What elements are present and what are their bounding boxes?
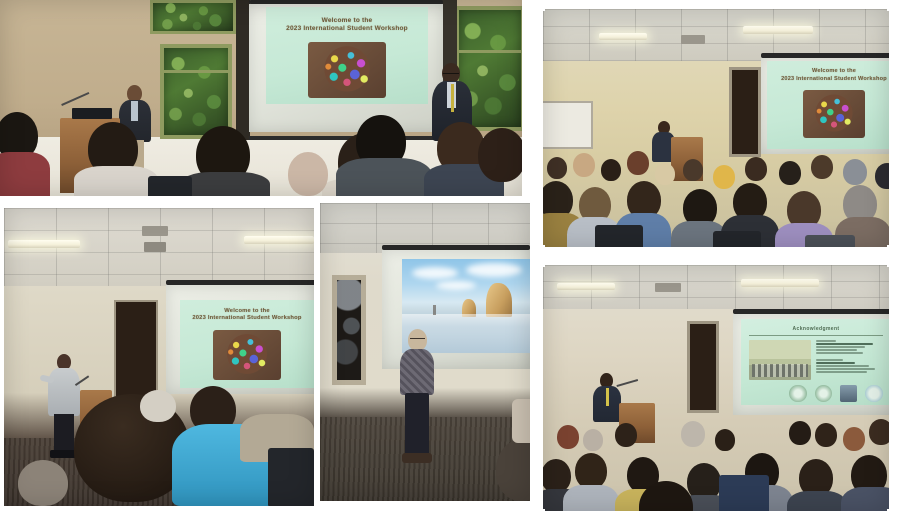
slide-group-photo <box>749 340 810 380</box>
projector-screen: Welcome to the 2023 International Studen… <box>249 0 443 140</box>
whiteboard <box>543 101 593 149</box>
audience-arm <box>512 399 530 443</box>
ack-list-line <box>816 349 857 351</box>
ceiling-light <box>244 236 314 244</box>
slide-ack-body <box>749 340 882 380</box>
window-center <box>160 44 232 139</box>
ceiling-light <box>741 279 819 287</box>
corner-patch <box>887 245 898 256</box>
photo-inner: Acknowledgment <box>543 265 889 511</box>
drop-ceiling <box>4 208 314 286</box>
ack-list-line <box>816 359 843 361</box>
slide-ack-title: Acknowledgment <box>749 326 882 332</box>
audience-shoulders <box>180 172 270 196</box>
ack-list-line <box>816 346 865 348</box>
ack-list-line <box>816 352 863 354</box>
audience-head <box>140 390 176 422</box>
doorway <box>114 300 158 402</box>
lecture-room-scene <box>320 203 530 501</box>
audience-head <box>683 159 703 181</box>
speaker-glasses <box>443 73 459 76</box>
audience-head <box>18 460 68 506</box>
cloud <box>412 267 458 279</box>
speaker-lanyard <box>451 84 454 112</box>
ceiling-light <box>599 33 647 40</box>
narrow-window <box>332 275 366 385</box>
speaker-shirt <box>131 101 138 121</box>
speaker-shoes <box>50 450 76 458</box>
slide-title-line2: 2023 International Student Workshop <box>781 76 887 84</box>
speaker-legs <box>405 393 429 455</box>
photo-panel-bottom-middle[interactable] <box>320 203 530 501</box>
photo-inner: Welcome to the 2023 International Studen… <box>543 9 889 247</box>
doorway <box>687 321 719 413</box>
sponsor-logo <box>789 385 806 402</box>
audience-head <box>601 159 621 181</box>
audience-shoulders <box>336 158 432 196</box>
slide-title-line2: 2023 International Student Workshop <box>192 315 301 323</box>
photo-collage: Welcome to the 2023 International Studen… <box>0 0 900 520</box>
slide-sponsor-logos <box>749 385 882 402</box>
lecture-room-scene: Welcome to the 2023 International Studen… <box>4 208 314 506</box>
slide-welcome: Welcome to the 2023 International Studen… <box>767 61 889 149</box>
slide-globe-image <box>213 330 281 380</box>
ack-list-line <box>816 340 836 342</box>
audience-head <box>575 453 607 489</box>
slide-title-line2: 2023 International Student Workshop <box>286 25 408 34</box>
ceiling-vent <box>681 35 705 44</box>
corner-patch <box>887 0 898 11</box>
sponsor-logo <box>815 385 832 402</box>
audience-shoulders <box>787 491 847 511</box>
chair <box>805 235 855 247</box>
chair <box>713 231 761 247</box>
speaker-glasses <box>410 338 425 341</box>
audience-shoulders <box>74 166 158 196</box>
audience-shoulders <box>841 487 889 511</box>
ack-list-heading <box>816 343 873 345</box>
corner-patch <box>534 509 545 520</box>
sea-stack <box>486 283 512 317</box>
projector-screen: Acknowledgment <box>733 309 889 419</box>
ack-list-line <box>816 365 869 367</box>
audience-shoulders <box>563 485 619 511</box>
window-reflection <box>337 280 361 380</box>
doorway <box>729 67 761 157</box>
ceiling-vent <box>655 283 681 292</box>
chair <box>719 475 769 511</box>
podium-laptop <box>72 108 112 119</box>
corner-patch <box>887 509 898 520</box>
speaker-torso <box>400 349 434 395</box>
audience-head <box>627 151 649 175</box>
chair <box>268 448 314 506</box>
chair <box>595 225 643 247</box>
slide-ack-name-list <box>816 340 883 380</box>
audience-head <box>547 157 567 179</box>
wall-dark-strip <box>236 0 250 140</box>
corner-patch <box>887 256 898 267</box>
photo-panel-bottom-right[interactable]: Acknowledgment <box>534 256 898 520</box>
slide-globe-image <box>308 42 386 98</box>
audience-row-front <box>543 441 889 511</box>
window-mullion <box>459 50 521 53</box>
corner-patch <box>534 256 545 267</box>
projector-screen: Welcome to the 2023 International Studen… <box>166 280 314 398</box>
cloud <box>436 281 476 290</box>
ceiling-light <box>743 26 813 34</box>
corner-patch <box>534 0 545 11</box>
ceiling-light <box>557 283 615 290</box>
ceiling-light <box>8 240 80 248</box>
speaker-shoes <box>402 453 432 463</box>
corner-patch <box>534 245 545 256</box>
speaker-presenter <box>398 329 436 469</box>
ceiling-vent <box>142 226 168 236</box>
ack-list-line <box>816 371 867 373</box>
window-mullion <box>164 70 228 73</box>
sponsor-logo <box>865 385 882 402</box>
sponsor-logo <box>840 385 857 402</box>
slide-title-line1: Welcome to the <box>812 68 856 76</box>
ack-list-line <box>816 368 875 370</box>
audience-head <box>478 128 522 182</box>
speaker-lanyard <box>606 388 609 406</box>
window-left <box>150 0 236 34</box>
slide-globe-image <box>803 90 865 138</box>
audience-head <box>745 157 767 181</box>
speaker-torso <box>48 368 80 416</box>
audience-shoulders <box>0 152 50 196</box>
slide-welcome: Welcome to the 2023 International Studen… <box>180 300 314 388</box>
cloud <box>466 263 522 277</box>
audience-head <box>811 155 833 179</box>
slide-ack-divider <box>749 335 882 336</box>
audience-head <box>288 152 328 196</box>
window-foliage <box>164 48 228 135</box>
photo-panel-top-right[interactable]: Welcome to the 2023 International Studen… <box>534 0 898 256</box>
window-foliage <box>153 3 233 31</box>
audience-head <box>543 459 571 493</box>
ceiling-vent <box>144 242 166 252</box>
photo-panel-bottom-left[interactable]: Welcome to the 2023 International Studen… <box>4 208 314 506</box>
audience-head <box>573 153 595 177</box>
slide-welcome: Welcome to the 2023 International Studen… <box>266 7 428 104</box>
ack-list-heading <box>816 362 855 364</box>
distant-figure <box>433 305 436 315</box>
drop-ceiling <box>543 265 889 309</box>
projector-screen: Welcome to the 2023 International Studen… <box>761 53 889 159</box>
lecture-room-scene: Welcome to the 2023 International Studen… <box>0 0 522 196</box>
speaker-legs <box>54 414 74 452</box>
photo-panel-top-left[interactable]: Welcome to the 2023 International Studen… <box>0 0 522 196</box>
chair <box>148 176 192 196</box>
slide-acknowledgment: Acknowledgment <box>741 319 889 405</box>
